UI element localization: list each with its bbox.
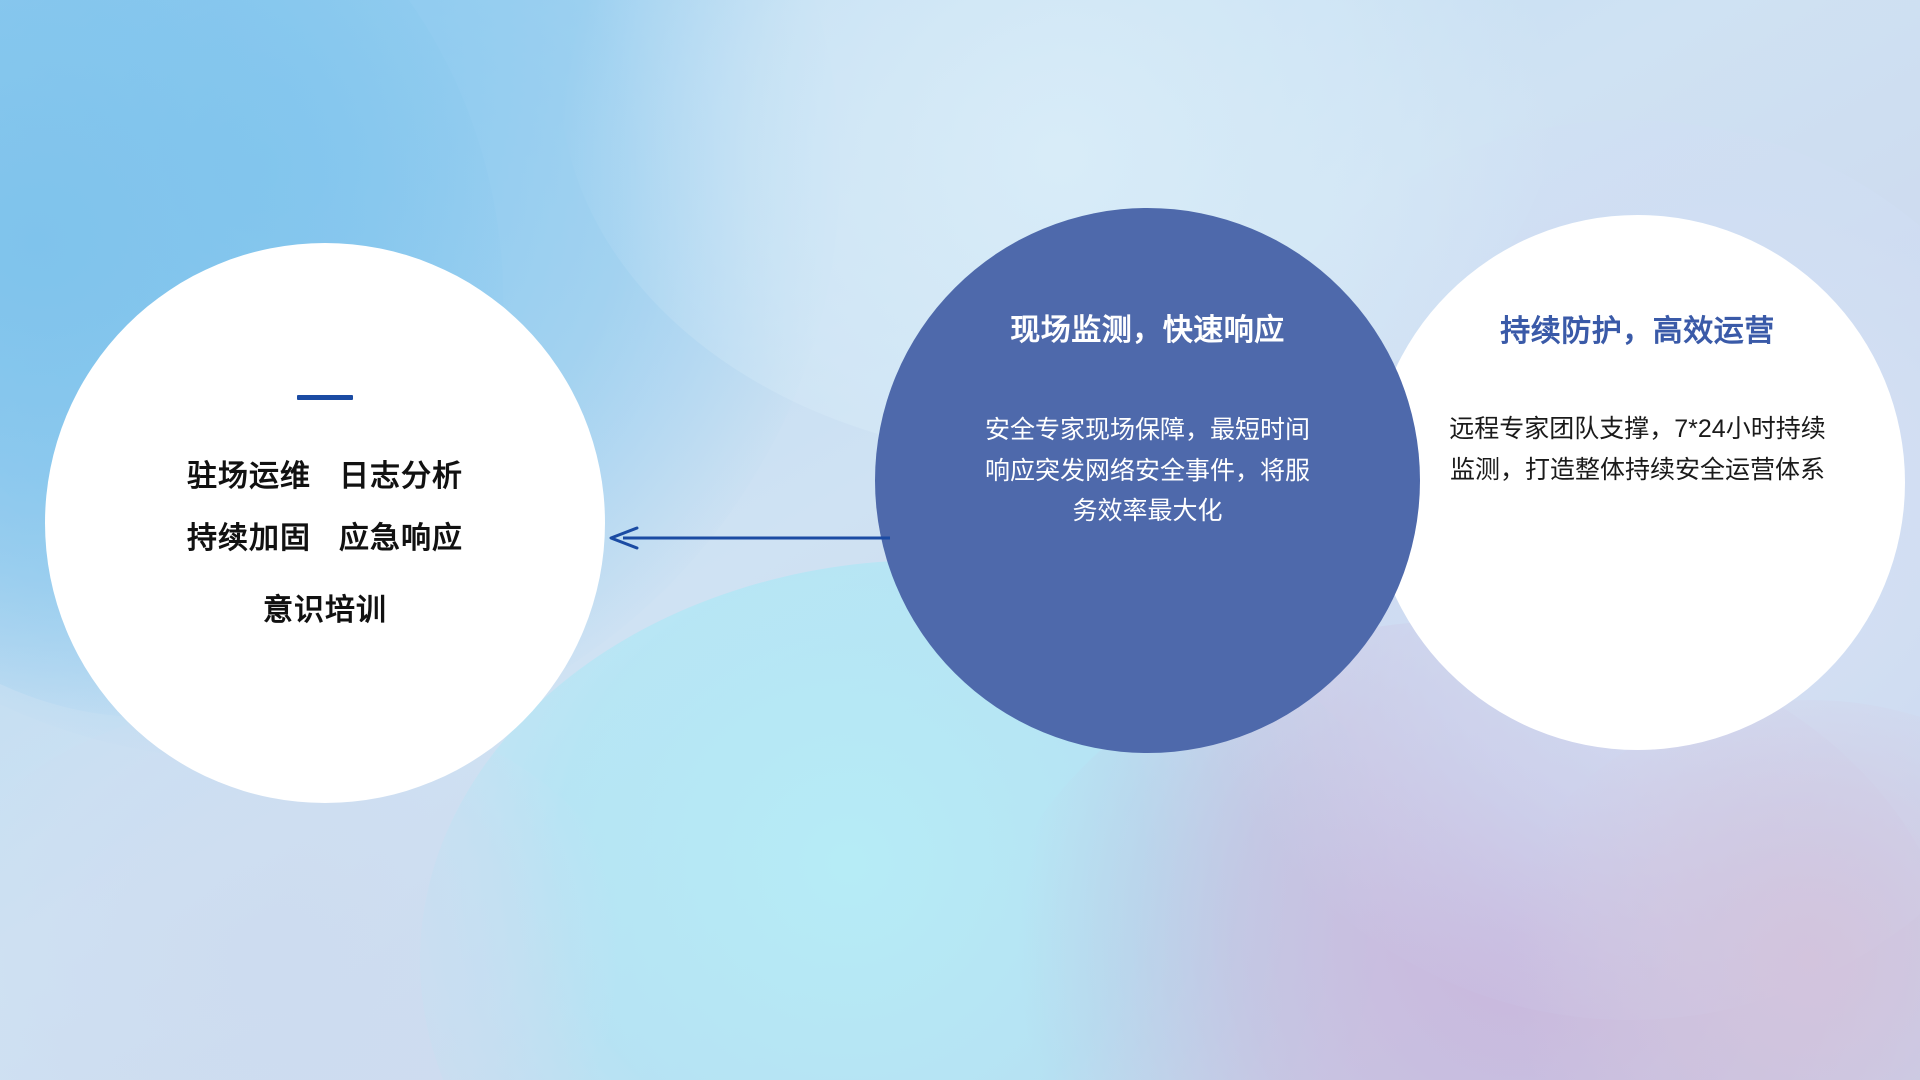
right-circle-body: 远程专家团队支撑，7*24小时持续监测，打造整体持续安全运营体系 [1438,409,1838,490]
left-circle-line-2: 持续加固 应急响应 [187,524,463,554]
left-circle-line-3: 意识培训 [263,596,387,626]
divider-dash-icon [297,395,353,400]
middle-monitoring-circle: 现场监测，快速响应 安全专家现场保障，最短时间响应突发网络安全事件，将服务效率最… [875,208,1420,753]
middle-circle-body: 安全专家现场保障，最短时间响应突发网络安全事件，将服务效率最大化 [975,410,1320,532]
arrow-left-icon [605,525,890,551]
middle-circle-title: 现场监测，快速响应 [1010,316,1285,346]
left-circle-line-1: 驻场运维 日志分析 [187,462,463,492]
right-operations-circle: 持续防护，高效运营 远程专家团队支撑，7*24小时持续监测，打造整体持续安全运营… [1370,215,1905,750]
right-circle-title: 持续防护，高效运营 [1500,317,1775,347]
left-capability-circle: 驻场运维 日志分析 持续加固 应急响应 意识培训 [45,243,605,803]
